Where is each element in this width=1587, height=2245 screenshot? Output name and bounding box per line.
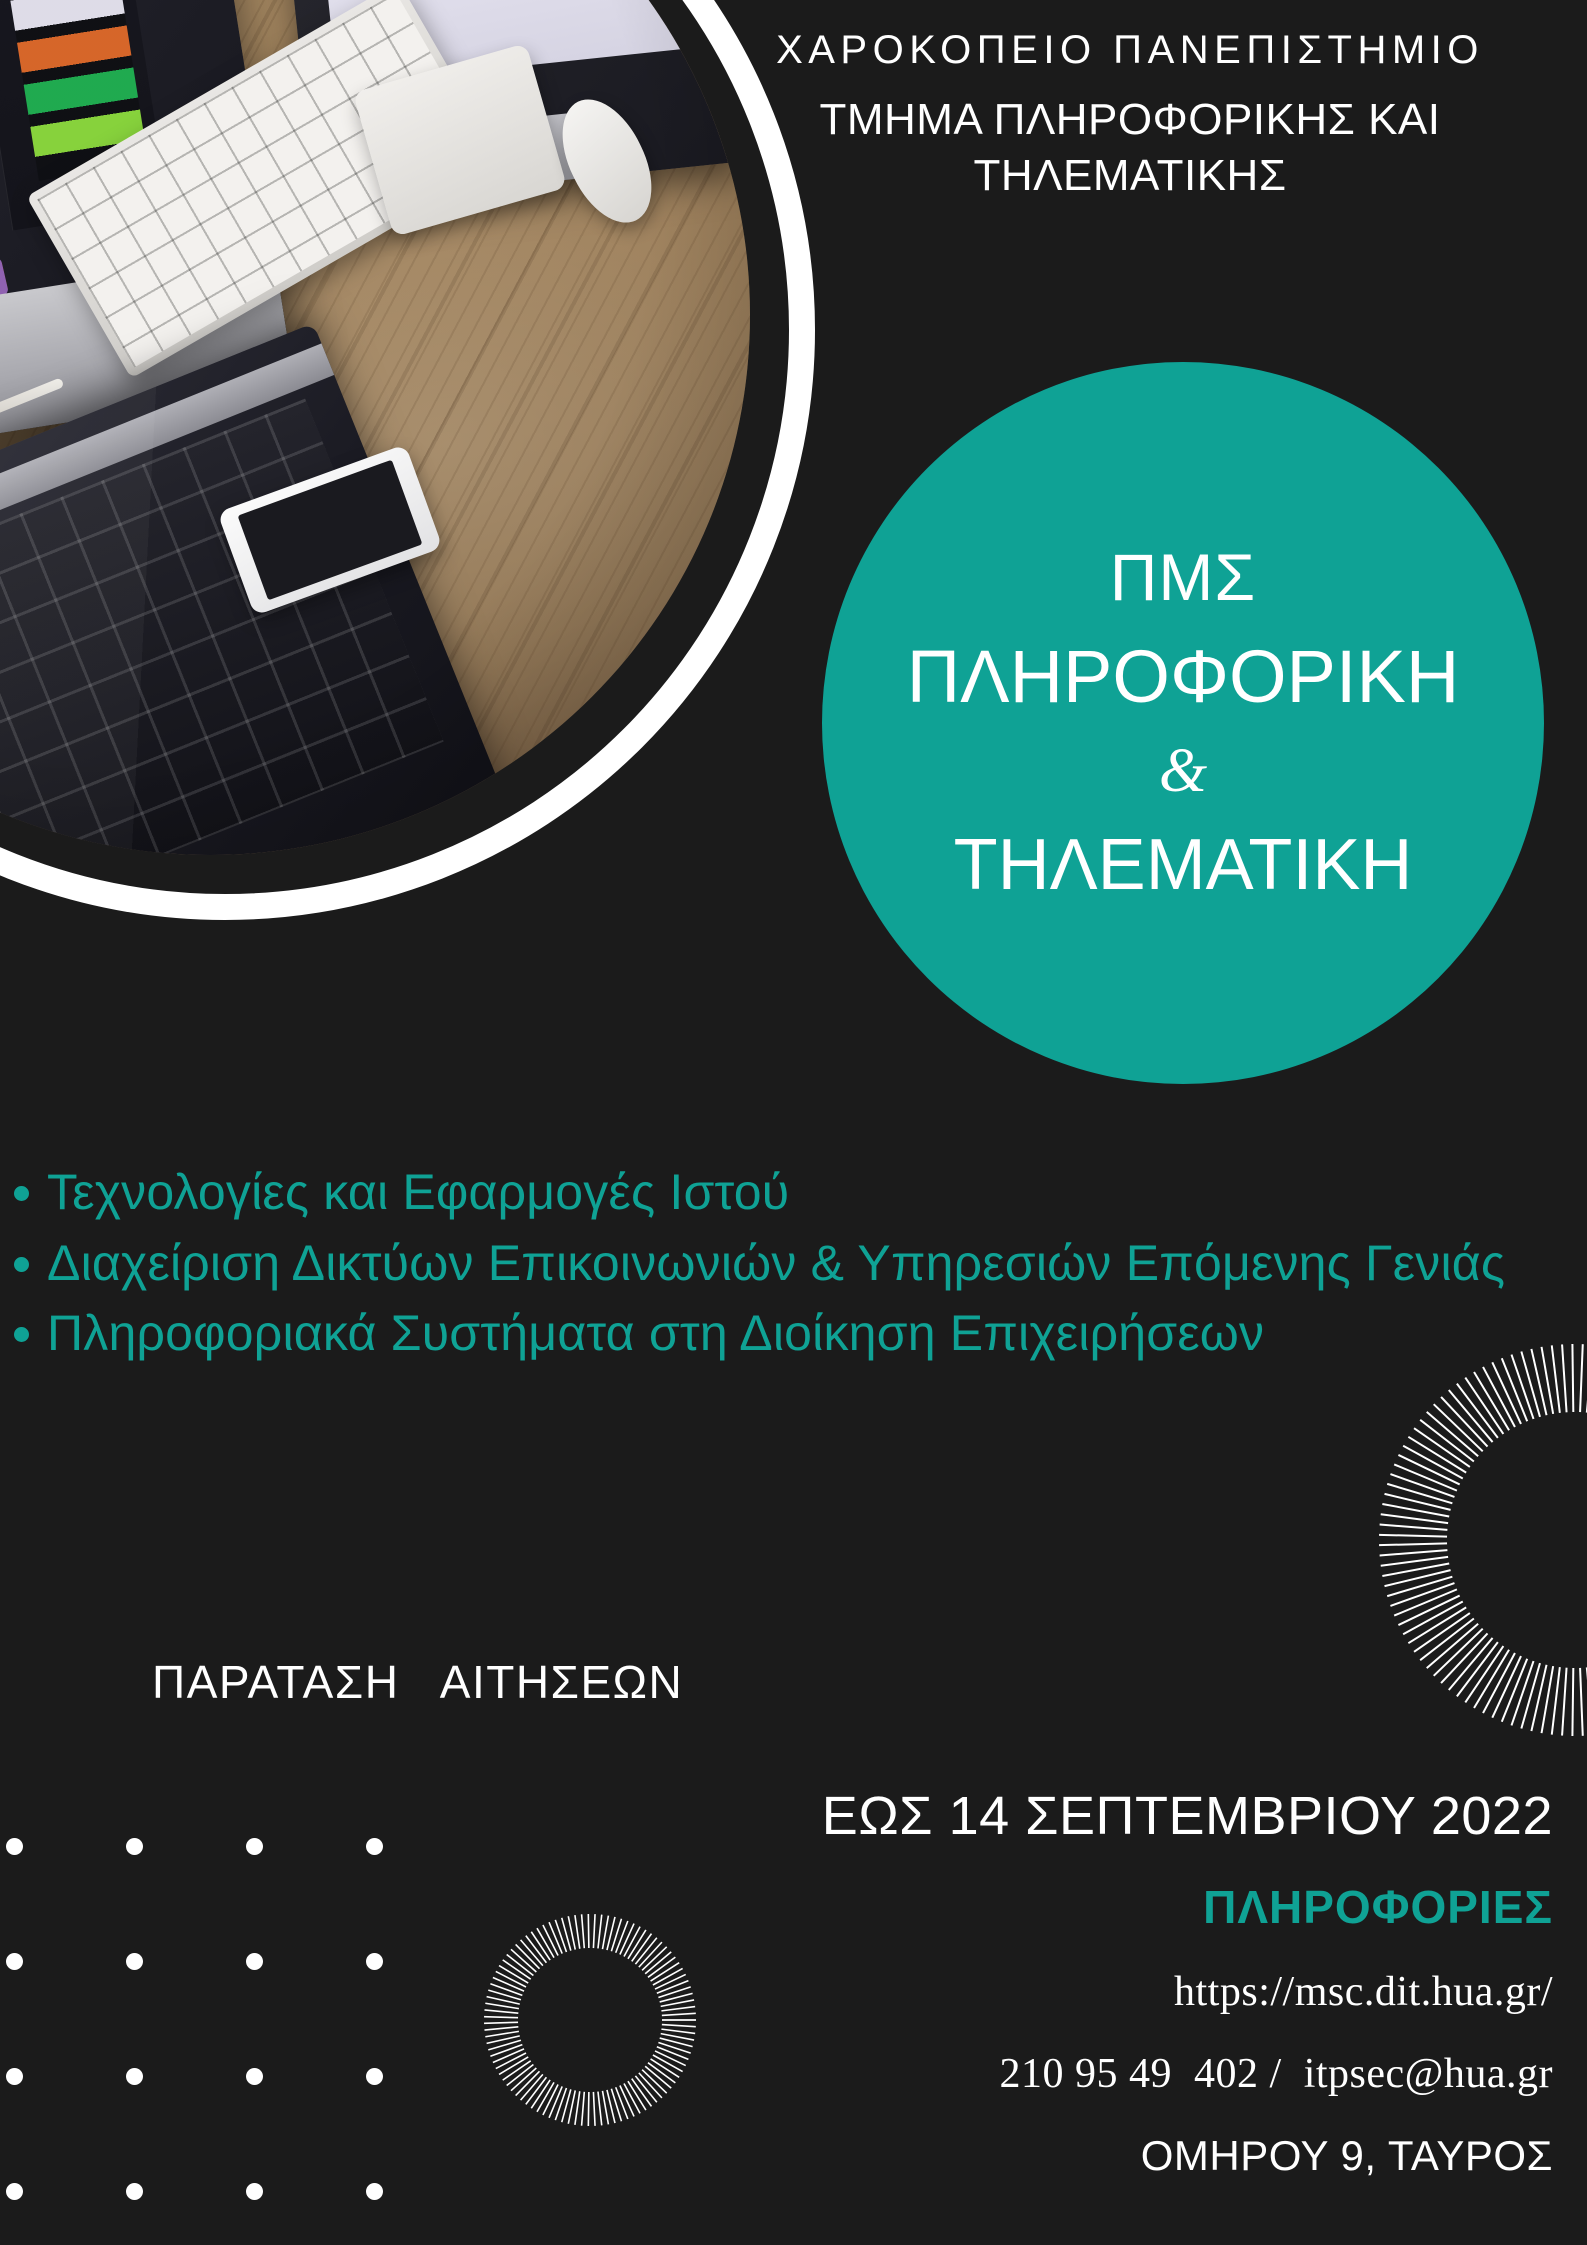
info-title: ΠΛΗΡΟΦΟΡΙΕΣ [793, 1880, 1553, 1934]
dot [126, 2183, 143, 2200]
dot [6, 1953, 23, 1970]
program-label: Πληροφοριακά Συστήματα στη Διοίκηση Επιχ… [47, 1301, 1264, 1366]
dot [246, 2183, 263, 2200]
sunburst-svg [450, 1880, 730, 2160]
program-list: Τεχνολογίες και Εφαρμογές Ιστού Διαχείρι… [14, 1160, 1574, 1372]
poster-root: ΧΑΡΟΚΟΠΕΙΟ ΠΑΝΕΠΙΣΤΗΜΙΟ ΤΜΗΜΑ ΠΛΗΡΟΦΟΡΙΚ… [0, 0, 1587, 2245]
department-name: ΤΜΗΜΑ ΠΛΗΡΟΦΟΡΙΚΗΣ ΚΑΙ ΤΗΛΕΜΑΤΙΚΗΣ [700, 92, 1560, 205]
info-address: ΟΜΗΡΟΥ 9, ΤΑΥΡΟΣ [793, 2132, 1553, 2180]
photo-vignette [0, 0, 750, 855]
badge-ampersand: & [1159, 740, 1207, 802]
dot [126, 1838, 143, 1855]
sunburst-ring-large-icon [1365, 1330, 1587, 1750]
list-item: Τεχνολογίες και Εφαρμογές Ιστού [14, 1160, 1574, 1225]
header: ΧΑΡΟΚΟΠΕΙΟ ΠΑΝΕΠΙΣΤΗΜΙΟ ΤΜΗΜΑ ΠΛΗΡΟΦΟΡΙΚ… [700, 26, 1560, 205]
dot [6, 1838, 23, 1855]
program-badge-circle: ΠΜΣ ΠΛΗΡΟΦΟΡΙΚΗ & ΤΗΛΕΜΑΤΙΚΗ [822, 362, 1544, 1084]
bullet-dot-icon [14, 1257, 29, 1272]
bullet-dot-icon [14, 1186, 29, 1201]
bullet-dot-icon [14, 1327, 29, 1342]
dot-grid-decoration [0, 1830, 420, 2245]
info-phone-email[interactable]: 210 95 49 402 / itpsec@hua.gr [793, 2050, 1553, 2098]
department-name-line2: ΤΗΛΕΜΑΤΙΚΗΣ [700, 148, 1560, 204]
info-website-url[interactable]: https://msc.dit.hua.gr/ [793, 1968, 1553, 2016]
list-item: Πληροφοριακά Συστήματα στη Διοίκηση Επιχ… [14, 1301, 1574, 1366]
badge-line-informatics: ΠΛΗΡΟΦΟΡΙΚΗ [907, 638, 1460, 716]
dot [126, 1953, 143, 1970]
dot [246, 1953, 263, 1970]
program-label: Τεχνολογίες και Εφαρμογές Ιστού [47, 1160, 789, 1225]
application-deadline: ΕΩΣ 14 ΣΕΠΤΕΜΒΡΙΟΥ 2022 [822, 1785, 1553, 1847]
department-name-line1: ΤΜΗΜΑ ΠΛΗΡΟΦΟΡΙΚΗΣ ΚΑΙ [700, 92, 1560, 148]
dot [126, 2068, 143, 2085]
badge-line-pms: ΠΜΣ [1110, 543, 1256, 612]
workspace-photo [0, 0, 750, 855]
dot [246, 1838, 263, 1855]
dot [246, 2068, 263, 2085]
program-label: Διαχείριση Δικτύων Επικοινωνιών & Υπηρεσ… [47, 1231, 1505, 1296]
dot [366, 2183, 383, 2200]
dot [366, 1838, 383, 1855]
badge-line-telematics: ΤΗΛΕΜΑΤΙΚΗ [954, 828, 1413, 904]
sunburst-svg [1365, 1330, 1587, 1750]
info-block: ΠΛΗΡΟΦΟΡΙΕΣ https://msc.dit.hua.gr/ 210 … [793, 1880, 1553, 2180]
dot [6, 2068, 23, 2085]
dot [6, 2183, 23, 2200]
list-item: Διαχείριση Δικτύων Επικοινωνιών & Υπηρεσ… [14, 1231, 1574, 1296]
application-extension-label: ΠΑΡΑΤΑΣΗ ΑΙΤΗΣΕΩΝ [152, 1655, 683, 1709]
university-name: ΧΑΡΟΚΟΠΕΙΟ ΠΑΝΕΠΙΣΤΗΜΙΟ [700, 26, 1560, 74]
dot [366, 1953, 383, 1970]
dot [366, 2068, 383, 2085]
sunburst-ring-small-icon [450, 1880, 730, 2160]
